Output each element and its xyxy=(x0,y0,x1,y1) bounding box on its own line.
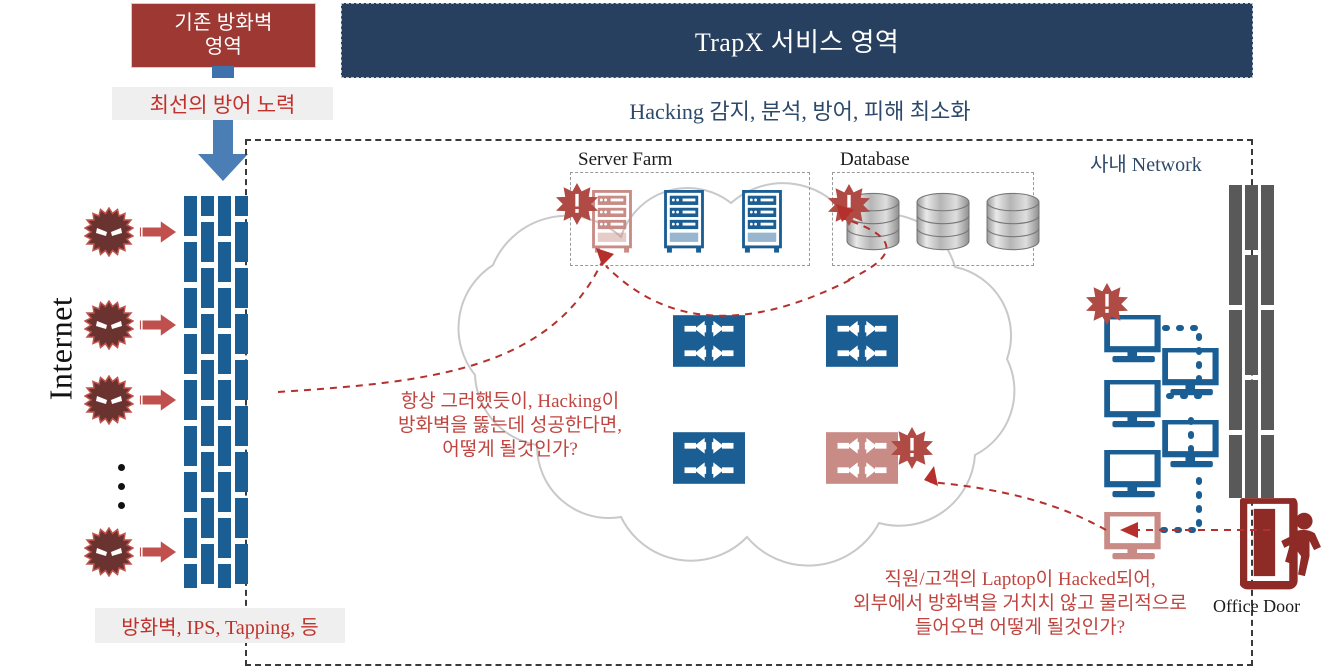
brick xyxy=(235,314,248,354)
brick xyxy=(184,472,197,512)
attack-arrow-icon xyxy=(138,387,176,413)
brick xyxy=(235,406,248,446)
firewall-tech-text: 방화벽, IPS, Tapping, 등 xyxy=(121,611,318,640)
brick xyxy=(184,518,197,558)
brick xyxy=(235,360,248,400)
brick xyxy=(201,452,214,492)
brick xyxy=(184,334,197,374)
brick-column xyxy=(218,196,231,588)
brick-column xyxy=(184,196,197,588)
attack-vector-4 xyxy=(84,527,176,577)
firewall-zone-line1: 기존 방화벽 xyxy=(174,12,272,36)
brick xyxy=(201,544,214,584)
brick xyxy=(201,360,214,400)
ellipsis-dots xyxy=(118,452,128,521)
down-arrow-icon xyxy=(196,120,250,182)
server-farm-label: Server Farm xyxy=(578,149,672,171)
hacking-tagline-text: Hacking 감지, 분석, 방어, 피해 최소화 xyxy=(629,94,970,126)
brick xyxy=(218,288,231,328)
callout-laptop-hacked: 직원/고객의 Laptop이 Hacked되어, 외부에서 방화벽을 거치치 않… xyxy=(790,568,1250,640)
attack-vector-3 xyxy=(84,375,176,425)
brick xyxy=(235,452,248,492)
brick xyxy=(218,426,231,466)
brick xyxy=(235,268,248,308)
brick xyxy=(218,380,231,420)
internet-label: Internet xyxy=(43,279,80,419)
brick xyxy=(218,196,231,236)
firewall-brick-wall xyxy=(184,196,248,588)
brick xyxy=(201,268,214,308)
banner-connector-stub xyxy=(212,66,234,78)
arrowhead xyxy=(924,466,938,486)
brick xyxy=(201,406,214,446)
malware-threat-icon xyxy=(84,375,134,425)
brick xyxy=(218,472,231,512)
callout-firewall-breach: 항상 그러했듯이, Hacking이 방화벽을 뚫는데 성공한다면, 어떻게 될… xyxy=(360,390,660,462)
attack-arrow-icon xyxy=(138,539,176,565)
trapx-zone-title: TrapX 서비스 영역 xyxy=(695,22,899,59)
brick xyxy=(184,426,197,466)
brick xyxy=(235,544,248,584)
brick xyxy=(235,498,248,538)
brick-column xyxy=(201,196,214,588)
malware-threat-icon xyxy=(84,300,134,350)
brick xyxy=(235,196,248,216)
brick xyxy=(184,288,197,328)
brick xyxy=(218,334,231,374)
arrowhead xyxy=(596,248,614,266)
attack-arrow-icon xyxy=(138,219,176,245)
brick xyxy=(184,196,197,236)
brick xyxy=(184,242,197,282)
brick xyxy=(184,380,197,420)
brick xyxy=(218,518,231,558)
malware-threat-icon xyxy=(84,207,134,257)
brick xyxy=(201,314,214,354)
brick xyxy=(218,564,231,588)
firewall-tech-label: 방화벽, IPS, Tapping, 등 xyxy=(95,608,345,643)
firewall-zone-line2: 영역 xyxy=(174,36,272,60)
brick xyxy=(201,498,214,538)
firewall-zone-banner: 기존 방화벽 영역 xyxy=(131,3,316,68)
malware-threat-icon xyxy=(84,527,134,577)
brick xyxy=(218,242,231,282)
brick xyxy=(201,196,214,216)
database-label: Database xyxy=(840,149,910,171)
attack-vector-1 xyxy=(84,207,176,257)
arrowhead xyxy=(1120,522,1138,538)
brick xyxy=(201,222,214,262)
hacking-tagline: Hacking 감지, 분석, 방어, 피해 최소화 xyxy=(520,94,1080,126)
best-effort-label: 최선의 방어 노력 xyxy=(112,87,333,120)
brick xyxy=(235,222,248,262)
attack-vector-2 xyxy=(84,300,176,350)
attack-arrow-icon xyxy=(138,312,176,338)
best-effort-text: 최선의 방어 노력 xyxy=(150,89,296,119)
brick-column xyxy=(235,196,248,588)
trapx-service-zone-banner: TrapX 서비스 영역 xyxy=(341,3,1253,78)
brick xyxy=(184,564,197,588)
attack-path-lines-laptop xyxy=(870,440,1290,570)
